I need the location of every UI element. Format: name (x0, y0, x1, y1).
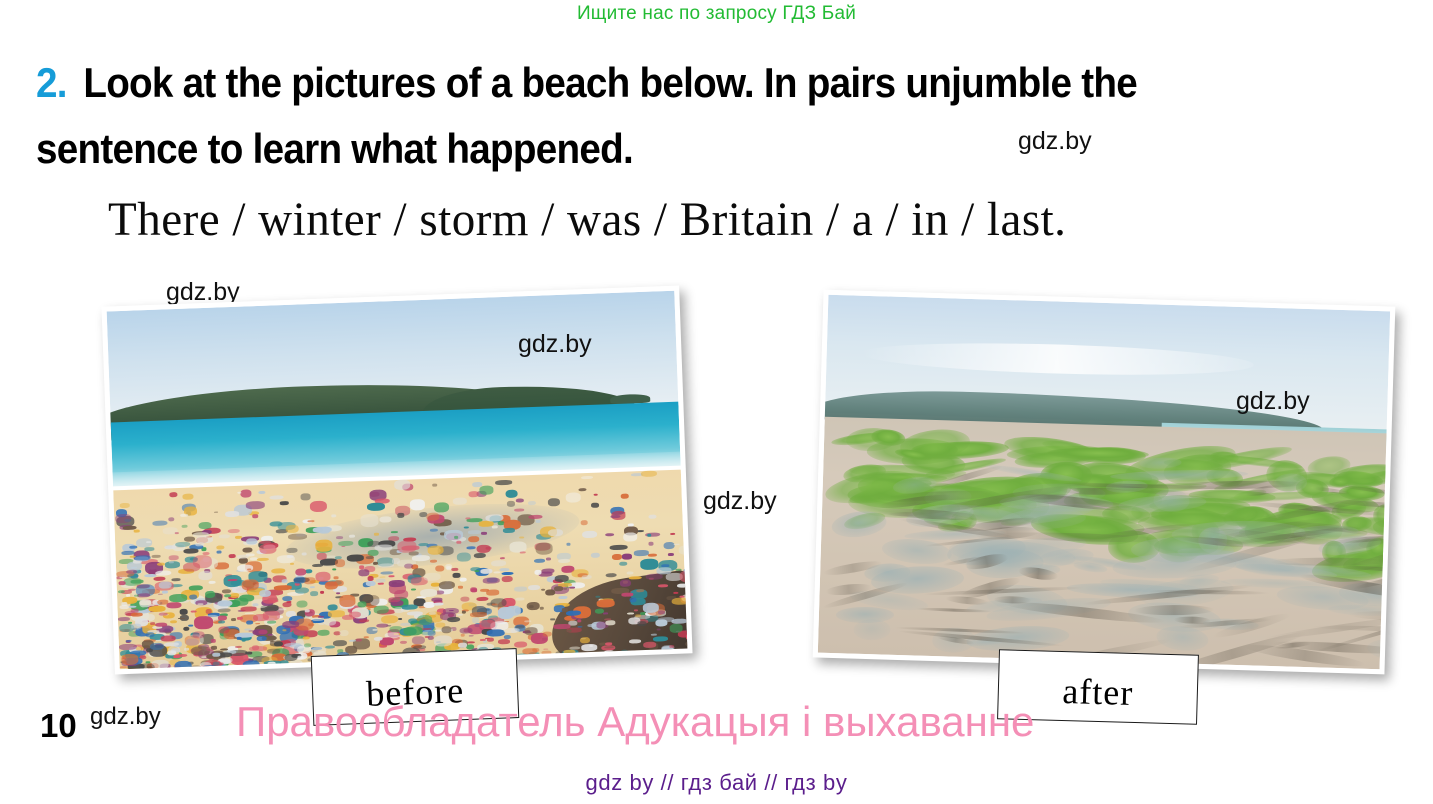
watermark-gdz-by: gdz.by (518, 330, 592, 359)
photo-after (813, 290, 1396, 675)
photo-after-image (818, 295, 1390, 670)
page-number: 10 (40, 707, 77, 745)
watermark-gdz-by: gdz.by (90, 703, 161, 731)
photo-before (101, 286, 692, 675)
watermark-gdz-by: gdz.by (703, 487, 777, 516)
jumbled-sentence: There / winter / storm / was / Britain /… (108, 190, 1066, 250)
task-number: 2. (36, 59, 67, 106)
task-heading: 2.Look at the pictures of a beach below.… (36, 50, 1306, 182)
footer-links: gdz by // гдз бай // гдз by (0, 770, 1433, 796)
beach-crowd (113, 466, 687, 669)
watermark-gdz-by: gdz.by (1236, 387, 1310, 416)
copyright-notice: Правообладатель Адукацыя і выхаванне (236, 698, 1034, 746)
photo-before-image (107, 291, 688, 670)
site-promo-banner: Ищите нас по запросу ГДЗ Бай (0, 0, 1433, 28)
task-heading-text: Look at the pictures of a beach below. I… (36, 59, 1137, 172)
watermark-gdz-by: gdz.by (1018, 127, 1092, 156)
